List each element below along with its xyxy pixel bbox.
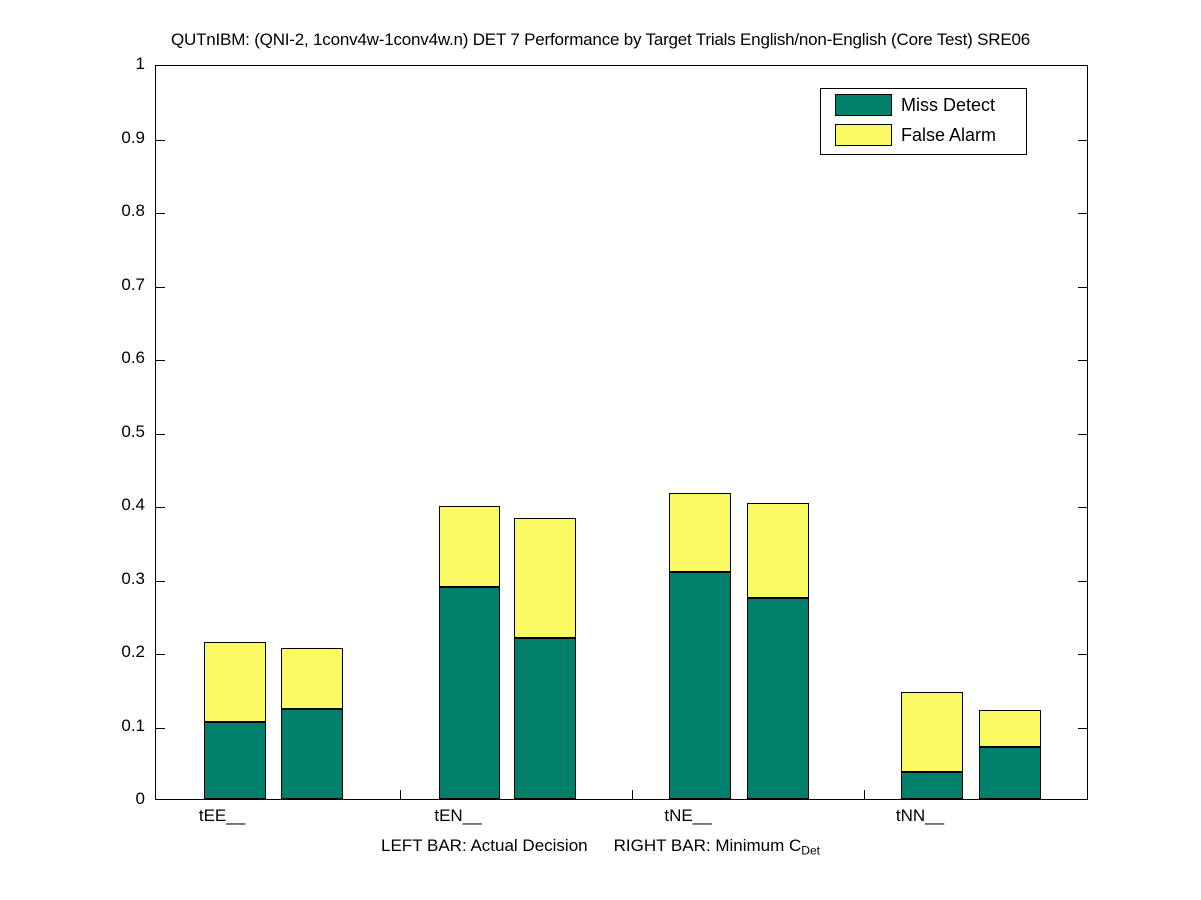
y-axis-tick-mark [156, 507, 165, 508]
y-axis-tick-label: 0 [60, 789, 145, 809]
y-axis-tick-label: 0.8 [60, 201, 145, 221]
y-axis-tick-mark [1078, 287, 1087, 288]
bar-segment-false-alarm [204, 642, 266, 722]
y-axis-tick-label: 0.2 [60, 642, 145, 662]
y-axis-tick-mark [1078, 434, 1087, 435]
y-axis-tick-mark [1078, 360, 1087, 361]
y-axis-tick-label: 0.3 [60, 569, 145, 589]
legend-label-false-alarm: False Alarm [901, 123, 996, 147]
y-axis-tick-mark [156, 213, 165, 214]
bar-segment-false-alarm [669, 493, 731, 572]
legend-swatch-miss-detect [835, 94, 892, 116]
bar-segment-miss-detect [439, 587, 500, 799]
y-axis-tick-label: 0.1 [60, 716, 145, 736]
y-axis-tick-mark [1078, 140, 1087, 141]
bar-segment-miss-detect [747, 598, 809, 799]
bar-segment-miss-detect [204, 722, 266, 799]
bar-segment-miss-detect [669, 572, 731, 799]
caption-right-bar: RIGHT BAR: Minimum C [614, 836, 802, 855]
legend: Miss Detect False Alarm [820, 88, 1027, 155]
bar-segment-false-alarm [979, 710, 1041, 747]
bar-tEN-right [514, 518, 576, 799]
legend-swatch-false-alarm [835, 124, 892, 146]
legend-label-miss-detect: Miss Detect [901, 93, 995, 117]
bar-tNE-left [669, 493, 731, 799]
bar-tNN-left [901, 692, 963, 799]
x-axis-tick-label: tEE__ [162, 806, 282, 826]
y-axis-tick-mark [1078, 213, 1087, 214]
bar-segment-miss-detect [979, 747, 1041, 799]
plot-inner [156, 66, 1087, 799]
bar-segment-false-alarm [281, 648, 343, 709]
legend-entry-false-alarm: False Alarm [821, 124, 1026, 152]
x-axis-tick-label: tEN__ [398, 806, 518, 826]
bar-segment-false-alarm [901, 692, 963, 772]
chart-title: QUTnIBM: (QNI-2, 1conv4w-1conv4w.n) DET … [0, 30, 1201, 50]
x-axis-tick-mark [864, 790, 865, 799]
y-axis-tick-label: 0.5 [60, 422, 145, 442]
y-axis-tick-label: 0.9 [60, 128, 145, 148]
y-axis-tick-mark [156, 581, 165, 582]
y-axis-tick-label: 0.6 [60, 348, 145, 368]
bar-segment-false-alarm [514, 518, 576, 638]
y-axis-tick-mark [156, 728, 165, 729]
y-axis-tick-mark [1078, 654, 1087, 655]
bar-segment-miss-detect [514, 638, 576, 799]
y-axis-tick-mark [156, 287, 165, 288]
y-axis-tick-mark [156, 654, 165, 655]
y-axis-tick-mark [1078, 507, 1087, 508]
legend-entry-miss-detect: Miss Detect [821, 94, 1026, 122]
bar-tEE-right [281, 648, 343, 799]
figure-canvas: QUTnIBM: (QNI-2, 1conv4w-1conv4w.n) DET … [0, 0, 1201, 900]
y-axis-tick-label: 0.7 [60, 275, 145, 295]
axes-caption: LEFT BAR: Actual DecisionRIGHT BAR: Mini… [0, 836, 1201, 858]
bar-segment-false-alarm [439, 506, 500, 586]
y-axis-tick-mark [156, 434, 165, 435]
y-axis-tick-label: 0.4 [60, 495, 145, 515]
bar-segment-miss-detect [901, 772, 963, 799]
x-axis-tick-mark [400, 790, 401, 799]
bar-tNN-right [979, 710, 1041, 799]
bar-tEN-left [439, 506, 500, 799]
bar-tNE-right [747, 503, 809, 799]
bar-segment-false-alarm [747, 503, 809, 599]
bar-tEE-left [204, 642, 266, 799]
y-axis-tick-label: 1 [60, 54, 145, 74]
x-axis-tick-mark [632, 790, 633, 799]
bar-segment-miss-detect [281, 709, 343, 799]
y-axis-tick-mark [1078, 728, 1087, 729]
caption-left-bar: LEFT BAR: Actual Decision [381, 836, 588, 855]
x-axis-tick-label: tNN__ [860, 806, 980, 826]
x-axis-tick-label: tNE__ [628, 806, 748, 826]
y-axis-tick-mark [1078, 581, 1087, 582]
caption-right-bar-subscript: Det [801, 844, 820, 858]
plot-area [155, 65, 1088, 800]
y-axis-tick-mark [156, 140, 165, 141]
y-axis-tick-mark [156, 360, 165, 361]
